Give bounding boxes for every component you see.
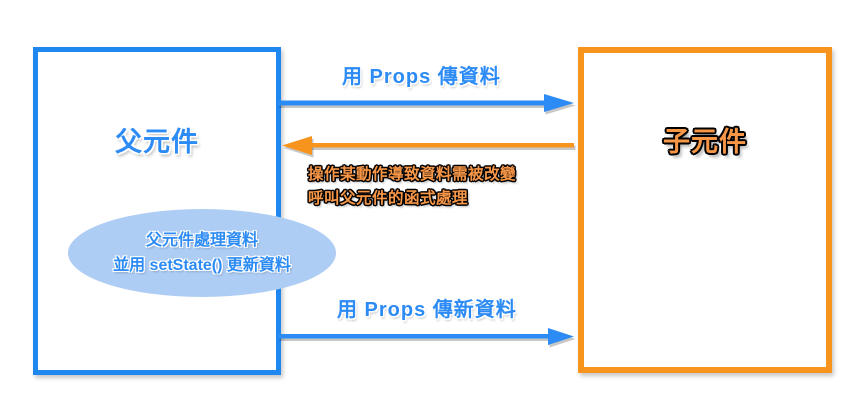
parent-component-label: 父元件 [33, 120, 281, 159]
props-new-data-arrow-icon [278, 325, 578, 351]
child-component-label: 子元件 [578, 120, 832, 159]
child-component-box [578, 47, 832, 373]
parent-state-ellipse-text: 父元件處理資料 並用 setState() 更新資料 [68, 228, 336, 278]
ellipse-line-2: 並用 setState() 更新資料 [68, 253, 336, 278]
diagram-canvas: 父元件處理資料 並用 setState() 更新資料 父元件 子元件 用 Pro… [0, 0, 866, 420]
props-down-arrow-label: 用 Props 傳資料 [342, 60, 501, 89]
props-down-arrow-icon [278, 92, 578, 118]
callback-label-line-2: 呼叫父元件的函式處理 [308, 187, 516, 211]
callback-up-arrow-icon [278, 134, 578, 160]
ellipse-line-1: 父元件處理資料 [68, 228, 336, 253]
callback-label-line-1: 操作某動作導致資料需被改變 [308, 163, 516, 187]
props-new-data-arrow-label: 用 Props 傳新資料 [337, 293, 517, 322]
callback-up-arrow-label: 操作某動作導致資料需被改變 呼叫父元件的函式處理 [308, 163, 516, 211]
